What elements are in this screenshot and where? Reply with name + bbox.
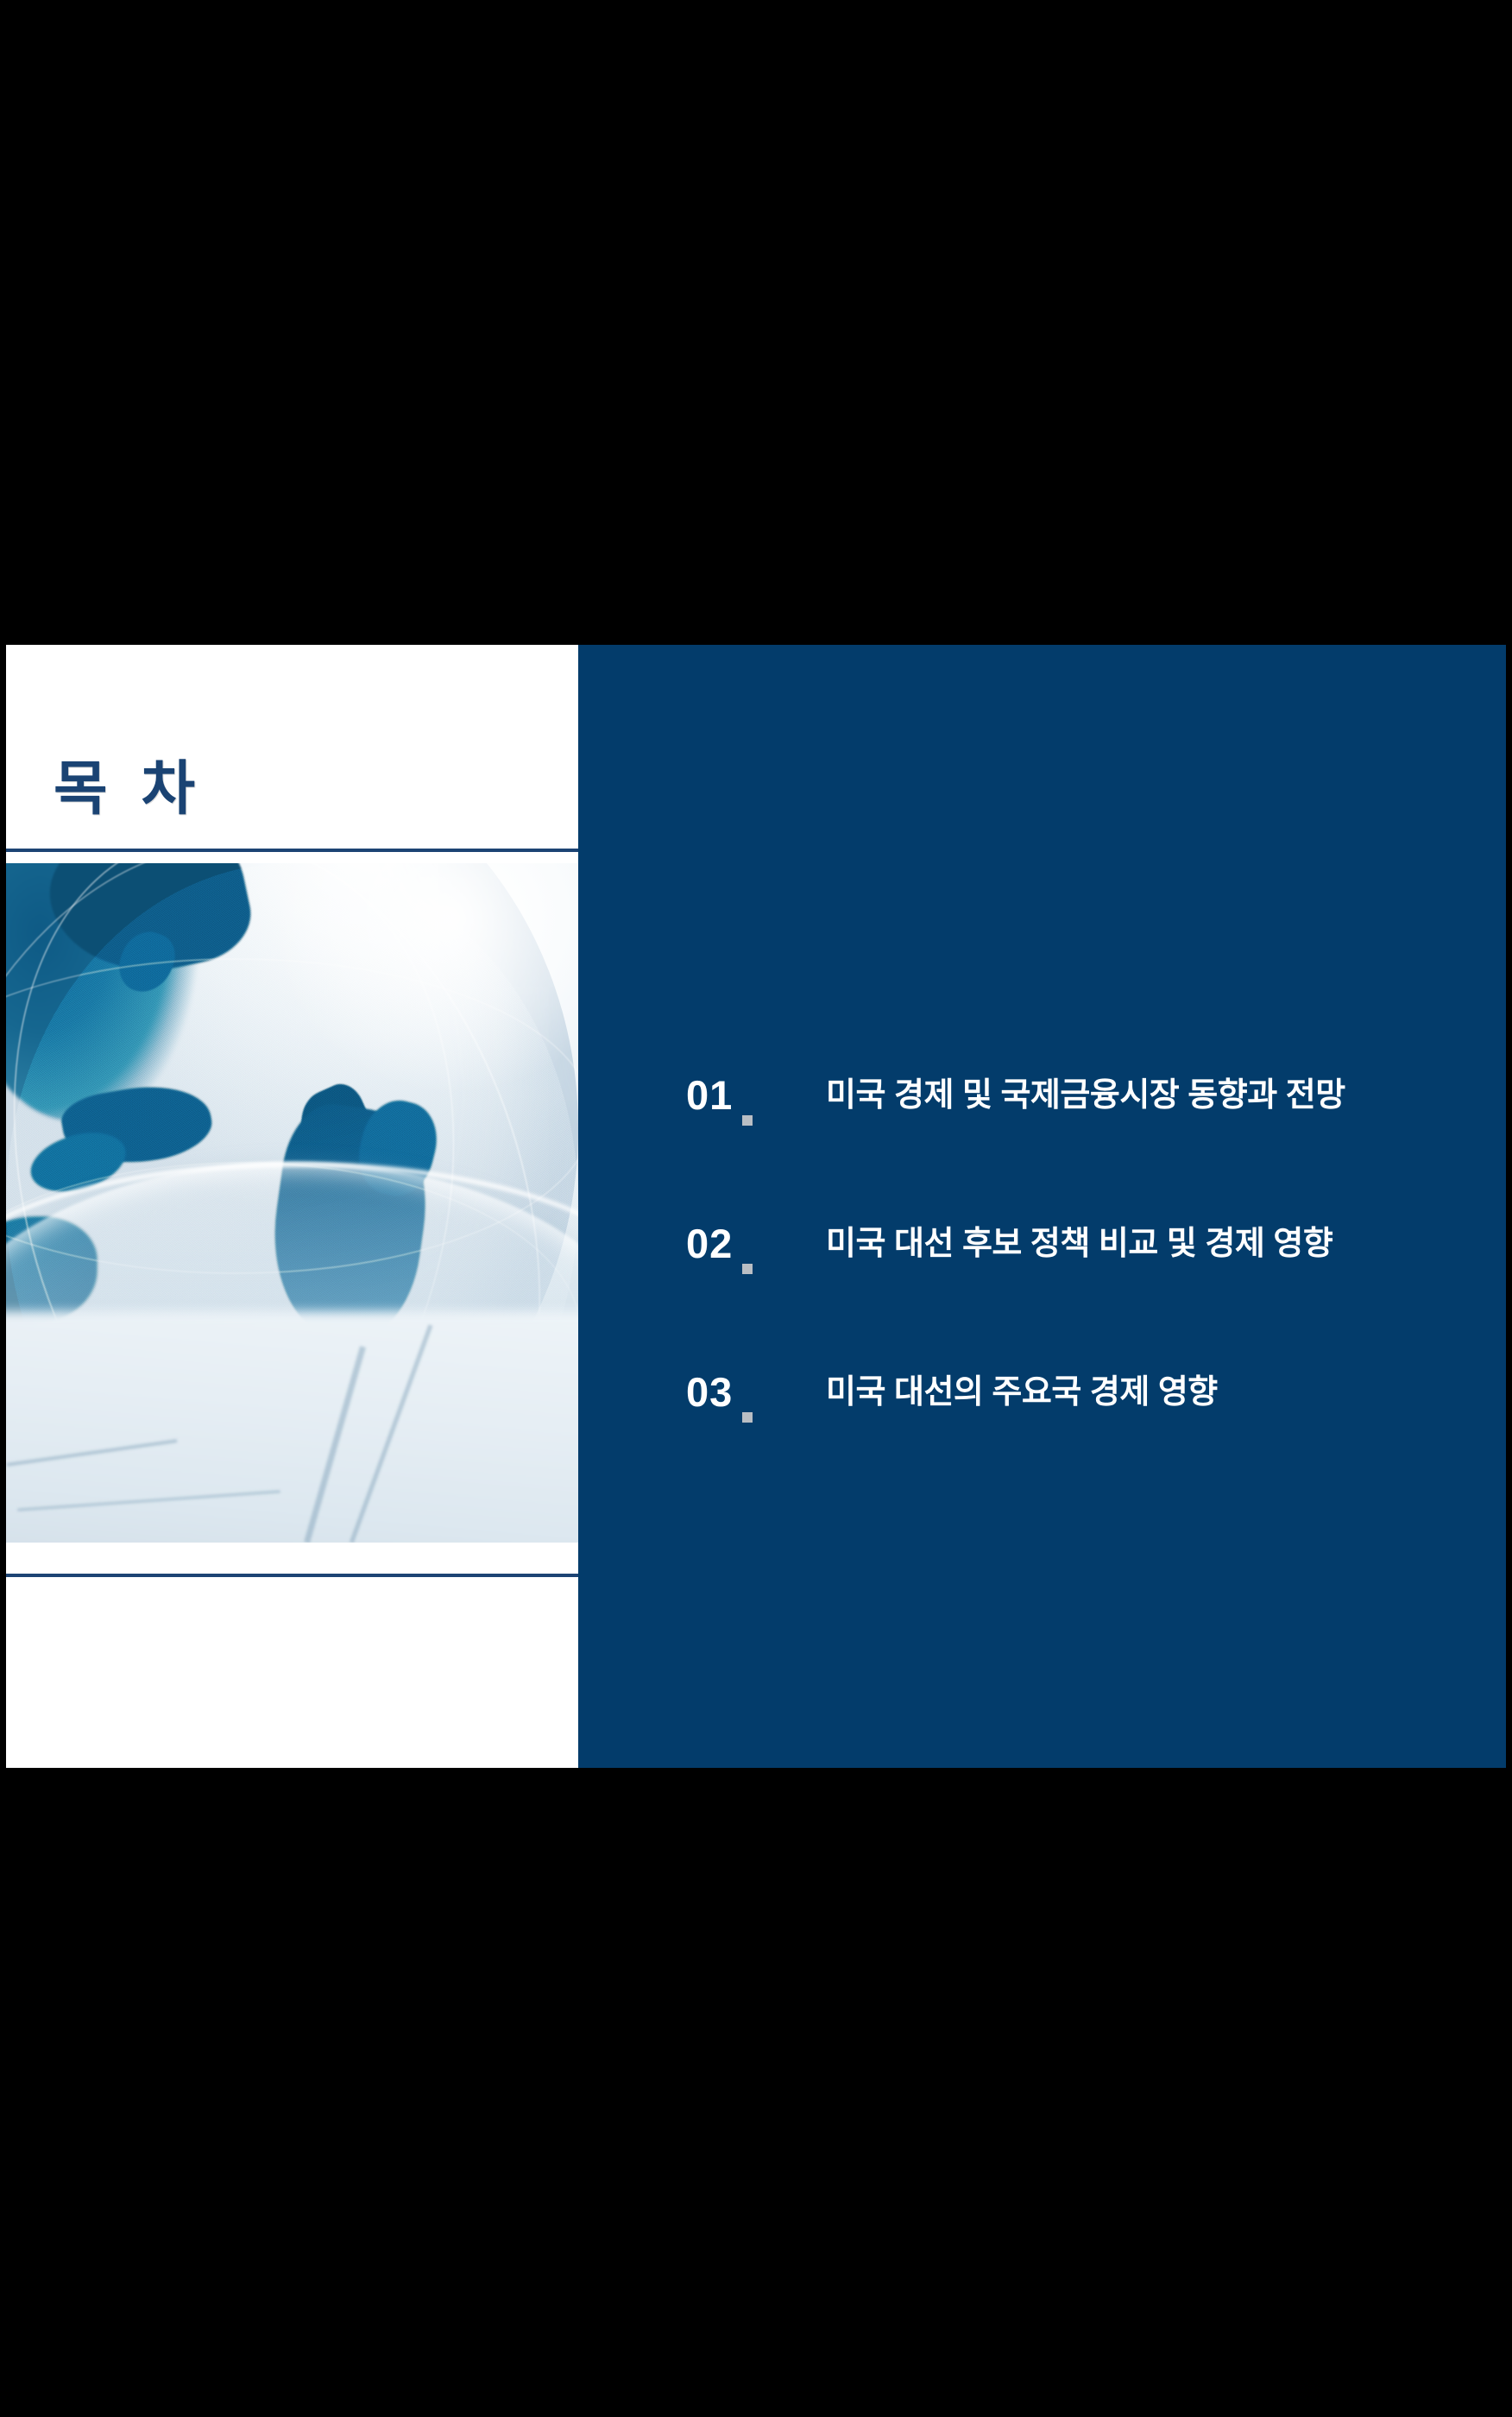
agenda-item-03[interactable]: 03 미국 대선의 주요국 경제 영향 — [578, 1372, 1506, 1520]
agenda-number-dot — [742, 1412, 753, 1423]
agenda-number-dot — [742, 1115, 753, 1126]
agenda-label: 미국 대선의 주요국 경제 영향 — [826, 1375, 1218, 1411]
desk-surface — [6, 1311, 578, 1543]
agenda-panel: 01 미국 경제 및 국제금융시장 동향과 전망 02 미국 대선 후보 정책 … — [578, 645, 1506, 1768]
agenda-number-dot — [742, 1264, 753, 1274]
title-divider-rule — [6, 849, 578, 852]
agenda-item-01[interactable]: 01 미국 경제 및 국제금융시장 동향과 전망 — [578, 1075, 1506, 1223]
page-title: 목 차 — [54, 760, 204, 818]
bottom-divider-rule — [6, 1574, 578, 1577]
globe-photo-image — [6, 863, 578, 1543]
presentation-slide: 목 차 — [6, 645, 1506, 1768]
agenda-number: 01 — [686, 1075, 733, 1115]
agenda-number: 03 — [686, 1372, 733, 1412]
agenda-label: 미국 경제 및 국제금융시장 동향과 전망 — [826, 1078, 1345, 1114]
agenda-list: 01 미국 경제 및 국제금융시장 동향과 전망 02 미국 대선 후보 정책 … — [578, 1075, 1506, 1520]
agenda-number: 02 — [686, 1223, 733, 1264]
left-column: 목 차 — [6, 645, 578, 1768]
agenda-label: 미국 대선 후보 정책 비교 및 경제 영향 — [826, 1227, 1332, 1263]
agenda-item-02[interactable]: 02 미국 대선 후보 정책 비교 및 경제 영향 — [578, 1223, 1506, 1372]
